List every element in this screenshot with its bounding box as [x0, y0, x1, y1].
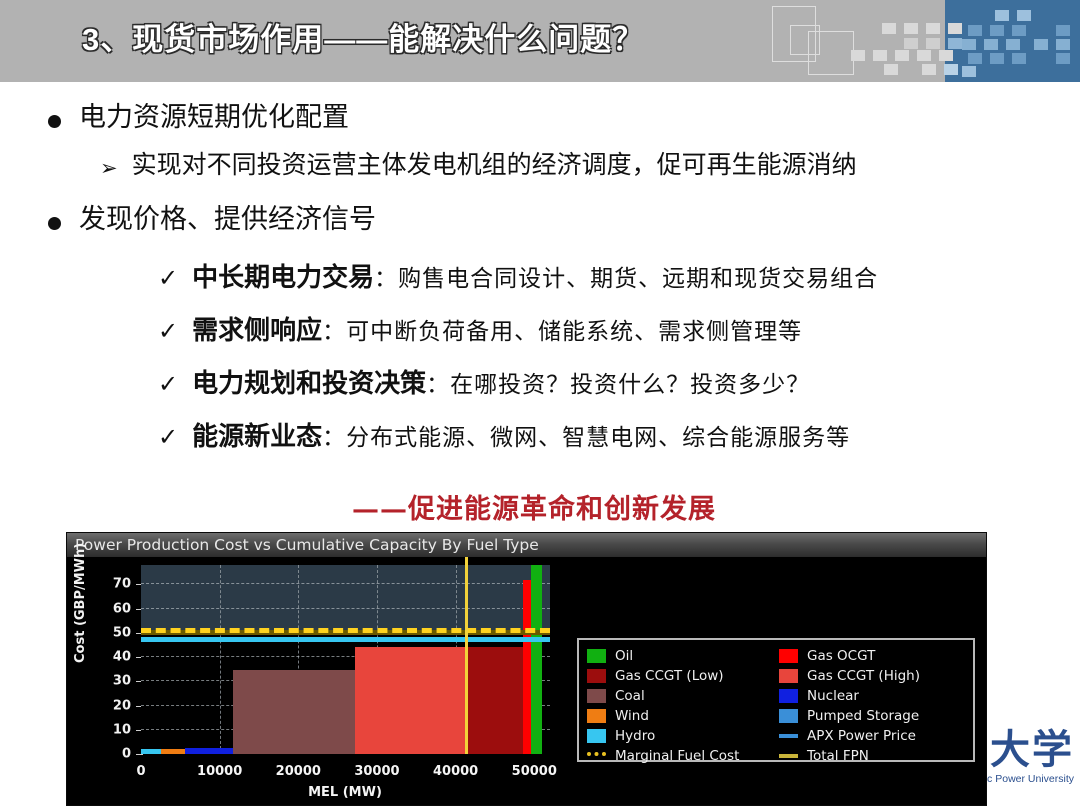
chart-bar-gas-ccgt-low: [467, 647, 524, 754]
chart-bar-wind: [161, 749, 185, 754]
check-tail: ：在哪投资？投资什么？投资多少？: [426, 365, 810, 399]
decor-square: [904, 23, 918, 34]
y-tick-label: 20: [97, 698, 131, 713]
decor-square: [926, 23, 940, 34]
chart-plot-area: [141, 565, 550, 754]
decor-square: [1034, 39, 1048, 50]
decor-square: [1056, 25, 1070, 36]
decor-square: [917, 50, 931, 61]
y-tick-label: 60: [97, 601, 131, 616]
chart-bar-nuclear: [185, 748, 233, 754]
x-tick-label: 0: [136, 764, 145, 779]
legend-swatch-total-fpn: [779, 754, 798, 758]
legend-swatch-oil: [587, 649, 606, 663]
decor-square: [944, 64, 958, 75]
legend-swatch-gas-ocgt: [779, 649, 798, 663]
decor-square: [990, 25, 1004, 36]
shaded-region: [141, 565, 550, 633]
legend-item: Marginal Fuel Cost: [587, 746, 773, 765]
decor-square: [968, 53, 982, 64]
decor-square: [1056, 39, 1070, 50]
decor-square: [995, 10, 1009, 21]
decor-square: [1056, 53, 1070, 64]
decor-square: [882, 23, 896, 34]
check-head: 电力规划和投资决策: [192, 363, 426, 400]
slide-header: 3、现货市场作用——能解决什么问题？: [0, 0, 1080, 82]
decor-square: [962, 66, 976, 77]
decor-square: [904, 38, 918, 49]
gridline-horizontal: [141, 583, 550, 584]
slide-body: 电力资源短期优化配置 ➢ 实现对不同投资运营主体发电机组的经济调度，促可再生能源…: [0, 82, 1080, 527]
legend-label: Nuclear: [807, 688, 859, 704]
bullet-dot-icon: [48, 115, 61, 128]
check-tail: ：可中断负荷备用、储能系统、需求侧管理等: [322, 312, 802, 346]
decor-square: [851, 50, 865, 61]
chart-title: Power Production Cost vs Cumulative Capa…: [75, 536, 539, 554]
legend-swatch-gas-ccgt-high: [779, 669, 798, 683]
legend-label: APX Power Price: [807, 728, 916, 744]
chart-bar-gas-ccgt-high: [355, 647, 467, 754]
legend-item: Gas CCGT (Low): [587, 666, 773, 685]
legend-item: Oil: [587, 646, 773, 665]
y-tick-label: 0: [97, 747, 131, 762]
legend-label: Oil: [615, 648, 633, 664]
legend-label: Hydro: [615, 728, 655, 744]
legend-swatch-coal: [587, 689, 606, 703]
legend-label: Wind: [615, 708, 649, 724]
check-head: 中长期电力交易: [192, 257, 374, 294]
decor-square: [873, 50, 887, 61]
legend-item: Hydro: [587, 726, 773, 745]
chart-bar-gas-ocgt: [523, 580, 531, 754]
chart-bar-hydro: [141, 749, 161, 754]
bullet-text: 发现价格、提供经济信号: [79, 204, 376, 235]
decor-square: [884, 64, 898, 75]
check-item: ✓ 电力规划和投资决策 ：在哪投资？投资什么？投资多少？: [158, 363, 810, 400]
decor-square: [968, 25, 982, 36]
y-tick-label: 30: [97, 674, 131, 689]
gridline-horizontal: [141, 608, 550, 609]
legend-swatch-nuclear: [779, 689, 798, 703]
bullet-dot-icon: [48, 217, 61, 230]
decor-square: [926, 38, 940, 49]
highlight-text: ——促进能源革命和创新发展: [352, 487, 716, 526]
legend-swatch-wind: [587, 709, 606, 723]
legend-item: Pumped Storage: [779, 706, 965, 725]
check-item: ✓ 能源新业态 ：分布式能源、微网、智慧电网、综合能源服务等: [158, 416, 850, 453]
legend-item: Wind: [587, 706, 773, 725]
x-tick-label: 10000: [197, 764, 242, 779]
chart-bar-oil: [531, 565, 542, 754]
legend-label: Total FPN: [807, 748, 869, 764]
legend-swatch-pumped-storage: [779, 709, 798, 723]
chart-legend: OilGas OCGTGas CCGT (Low)Gas CCGT (High)…: [577, 638, 975, 762]
legend-item: Total FPN: [779, 746, 965, 765]
y-tick-label: 10: [97, 722, 131, 737]
decor-square: [895, 50, 909, 61]
x-tick-label: 20000: [276, 764, 321, 779]
decor-square: [948, 38, 962, 49]
legend-label: Pumped Storage: [807, 708, 919, 724]
legend-swatch-gas-ccgt-low: [587, 669, 606, 683]
arrow-right-icon: ➢: [100, 156, 118, 181]
check-item: ✓ 中长期电力交易 ：购售电合同设计、期货、远期和现货交易组合: [158, 257, 878, 294]
decor-square: [1006, 39, 1020, 50]
legend-label: Gas OCGT: [807, 648, 875, 664]
legend-label: Gas CCGT (High): [807, 668, 920, 684]
decor-square: [962, 39, 976, 50]
legend-item: Gas OCGT: [779, 646, 965, 665]
legend-swatch-apx-power-price: [779, 734, 798, 738]
legend-swatch-hydro: [587, 729, 606, 743]
check-icon: ✓: [158, 423, 178, 452]
decor-outline-rect-3: [808, 31, 854, 75]
legend-item: Coal: [587, 686, 773, 705]
decor-square: [939, 50, 953, 61]
legend-label: Marginal Fuel Cost: [615, 748, 739, 764]
page-title: 3、现货市场作用——能解决什么问题？: [82, 14, 644, 59]
legend-grid: OilGas OCGTGas CCGT (Low)Gas CCGT (High)…: [587, 646, 965, 765]
y-tick-mark: [136, 754, 143, 755]
total-fpn-line: [465, 557, 468, 754]
decor-square: [984, 39, 998, 50]
decor-square: [990, 53, 1004, 64]
bullet-level1: 发现价格、提供经济信号: [48, 204, 376, 235]
legend-item: Gas CCGT (High): [779, 666, 965, 685]
y-tick-label: 50: [97, 625, 131, 640]
x-tick-label: 30000: [354, 764, 399, 779]
legend-label: Gas CCGT (Low): [615, 668, 724, 684]
legend-item: APX Power Price: [779, 726, 965, 745]
check-tail: ：购售电合同设计、期货、远期和现货交易组合: [374, 259, 878, 293]
legend-label: Coal: [615, 688, 645, 704]
x-tick-label: 50000: [512, 764, 557, 779]
chart-figure: Power Production Cost vs Cumulative Capa…: [67, 533, 986, 805]
check-icon: ✓: [158, 370, 178, 399]
decor-square: [922, 64, 936, 75]
check-head: 能源新业态: [192, 416, 322, 453]
check-head: 需求侧响应: [192, 310, 322, 347]
check-icon: ✓: [158, 317, 178, 346]
y-axis-label: Cost (GBP/MWh): [73, 543, 88, 663]
decor-square: [1012, 53, 1026, 64]
check-icon: ✓: [158, 264, 178, 293]
bullet-text: 实现对不同投资运营主体发电机组的经济调度，促可再生能源消纳: [132, 151, 857, 180]
decor-square: [1017, 10, 1031, 21]
x-axis-label: MEL (MW): [308, 785, 382, 800]
decor-square: [1012, 25, 1026, 36]
bullet-text: 电力资源短期优化配置: [79, 102, 349, 133]
check-tail: ：分布式能源、微网、智慧电网、综合能源服务等: [322, 418, 850, 452]
chart-plot-container: Cost (GBP/MWh) MEL (MW) 010203040506070 …: [67, 557, 986, 805]
x-tick-label: 40000: [433, 764, 478, 779]
bullet-level1: 电力资源短期优化配置: [48, 102, 349, 133]
marginal-fuel-cost-line: [141, 628, 550, 633]
decor-square: [948, 23, 962, 34]
bullet-level2: ➢ 实现对不同投资运营主体发电机组的经济调度，促可再生能源消纳: [100, 151, 857, 181]
legend-swatch-marginal-fuel-cost: [587, 752, 606, 760]
check-item: ✓ 需求侧响应 ：可中断负荷备用、储能系统、需求侧管理等: [158, 310, 802, 347]
gridline-vertical: [220, 565, 221, 754]
apx-power-price-line: [141, 637, 550, 642]
chart-bar-coal: [233, 670, 355, 754]
y-tick-label: 40: [97, 650, 131, 665]
y-tick-label: 70: [97, 577, 131, 592]
legend-item: Nuclear: [779, 686, 965, 705]
